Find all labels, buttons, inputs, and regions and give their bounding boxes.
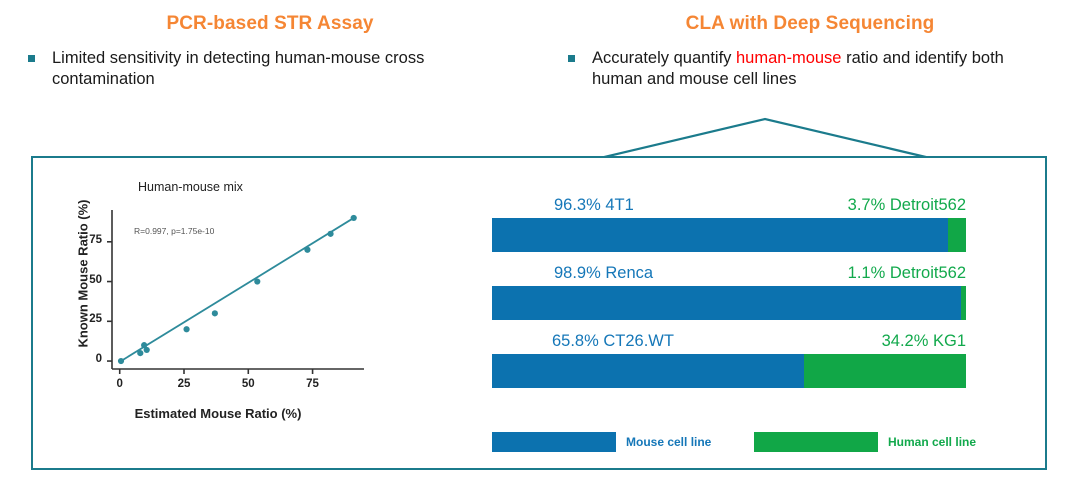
legend-swatch bbox=[754, 432, 878, 452]
scatter-plot-canvas bbox=[52, 202, 382, 407]
mouse-segment-label: 96.3% 4T1 bbox=[554, 196, 634, 215]
scatter-point bbox=[304, 247, 310, 253]
legend-item: Mouse cell line bbox=[492, 432, 711, 452]
scatter-point bbox=[144, 347, 150, 353]
bar-row-labels: 98.9% Renca1.1% Detroit562 bbox=[492, 264, 966, 286]
left-panel-bullet: Limited sensitivity in detecting human-m… bbox=[0, 48, 540, 90]
stacked-bar bbox=[492, 286, 966, 320]
scatter-point bbox=[137, 350, 143, 356]
legend-swatch bbox=[492, 432, 616, 452]
scatter-point bbox=[327, 231, 333, 237]
bar-row-labels: 65.8% CT26.WT34.2% KG1 bbox=[492, 332, 966, 354]
mouse-segment bbox=[492, 218, 948, 252]
scatter-x-axis-label: Estimated Mouse Ratio (%) bbox=[68, 406, 368, 421]
bullet-text-part1: Accurately quantify bbox=[592, 49, 736, 67]
bullet-square-icon bbox=[568, 55, 575, 62]
y-tick-label: 0 bbox=[74, 353, 102, 365]
stacked-bar-chart: 96.3% 4T13.7% Detroit56298.9% Renca1.1% … bbox=[492, 196, 966, 400]
callout-peak bbox=[600, 112, 940, 160]
scatter-point bbox=[118, 358, 124, 364]
regression-line bbox=[121, 218, 354, 361]
stacked-bar bbox=[492, 354, 966, 388]
human-segment-label: 3.7% Detroit562 bbox=[848, 196, 966, 215]
bar-row-labels: 96.3% 4T13.7% Detroit562 bbox=[492, 196, 966, 218]
y-tick-label: 25 bbox=[74, 313, 102, 325]
right-panel-heading: CLA with Deep Sequencing bbox=[540, 0, 1080, 35]
legend-label: Human cell line bbox=[888, 435, 976, 449]
human-segment bbox=[804, 354, 966, 388]
mouse-segment bbox=[492, 354, 804, 388]
left-panel-bullet-text: Limited sensitivity in detecting human-m… bbox=[52, 48, 518, 90]
mouse-segment-label: 65.8% CT26.WT bbox=[552, 332, 674, 351]
scatter-point bbox=[254, 278, 260, 284]
right-panel-bullet-text: Accurately quantify human-mouse ratio an… bbox=[592, 48, 1044, 90]
scatter-point bbox=[183, 326, 189, 332]
y-tick-label: 75 bbox=[74, 234, 102, 246]
scatter-point bbox=[351, 215, 357, 221]
human-segment bbox=[948, 218, 966, 252]
stacked-bar bbox=[492, 218, 966, 252]
x-tick-label: 75 bbox=[301, 378, 325, 390]
x-tick-label: 25 bbox=[172, 378, 196, 390]
scatter-title: Human-mouse mix bbox=[138, 180, 243, 194]
bar-row: 65.8% CT26.WT34.2% KG1 bbox=[492, 332, 966, 388]
mouse-segment bbox=[492, 286, 961, 320]
left-panel: PCR-based STR Assay Limited sensitivity … bbox=[0, 0, 540, 90]
bullet-square-icon bbox=[28, 55, 35, 62]
x-tick-label: 50 bbox=[236, 378, 260, 390]
left-panel-heading: PCR-based STR Assay bbox=[0, 0, 540, 35]
bar-row: 98.9% Renca1.1% Detroit562 bbox=[492, 264, 966, 320]
human-segment bbox=[961, 286, 966, 320]
right-panel-bullet: Accurately quantify human-mouse ratio an… bbox=[540, 48, 1080, 90]
scatter-point bbox=[212, 310, 218, 316]
y-tick-label: 50 bbox=[74, 274, 102, 286]
bullet-text-highlight: human-mouse bbox=[736, 49, 841, 67]
bar-row: 96.3% 4T13.7% Detroit562 bbox=[492, 196, 966, 252]
human-segment-label: 34.2% KG1 bbox=[882, 332, 966, 351]
bar-chart-legend: Mouse cell lineHuman cell line bbox=[492, 432, 966, 454]
scatter-plot: Human-mouse mix Known Mouse Ratio (%) Es… bbox=[52, 178, 382, 443]
x-tick-label: 0 bbox=[108, 378, 132, 390]
legend-item: Human cell line bbox=[754, 432, 976, 452]
mouse-segment-label: 98.9% Renca bbox=[554, 264, 653, 283]
human-segment-label: 1.1% Detroit562 bbox=[848, 264, 966, 283]
legend-label: Mouse cell line bbox=[626, 435, 711, 449]
right-panel: CLA with Deep Sequencing Accurately quan… bbox=[540, 0, 1080, 90]
